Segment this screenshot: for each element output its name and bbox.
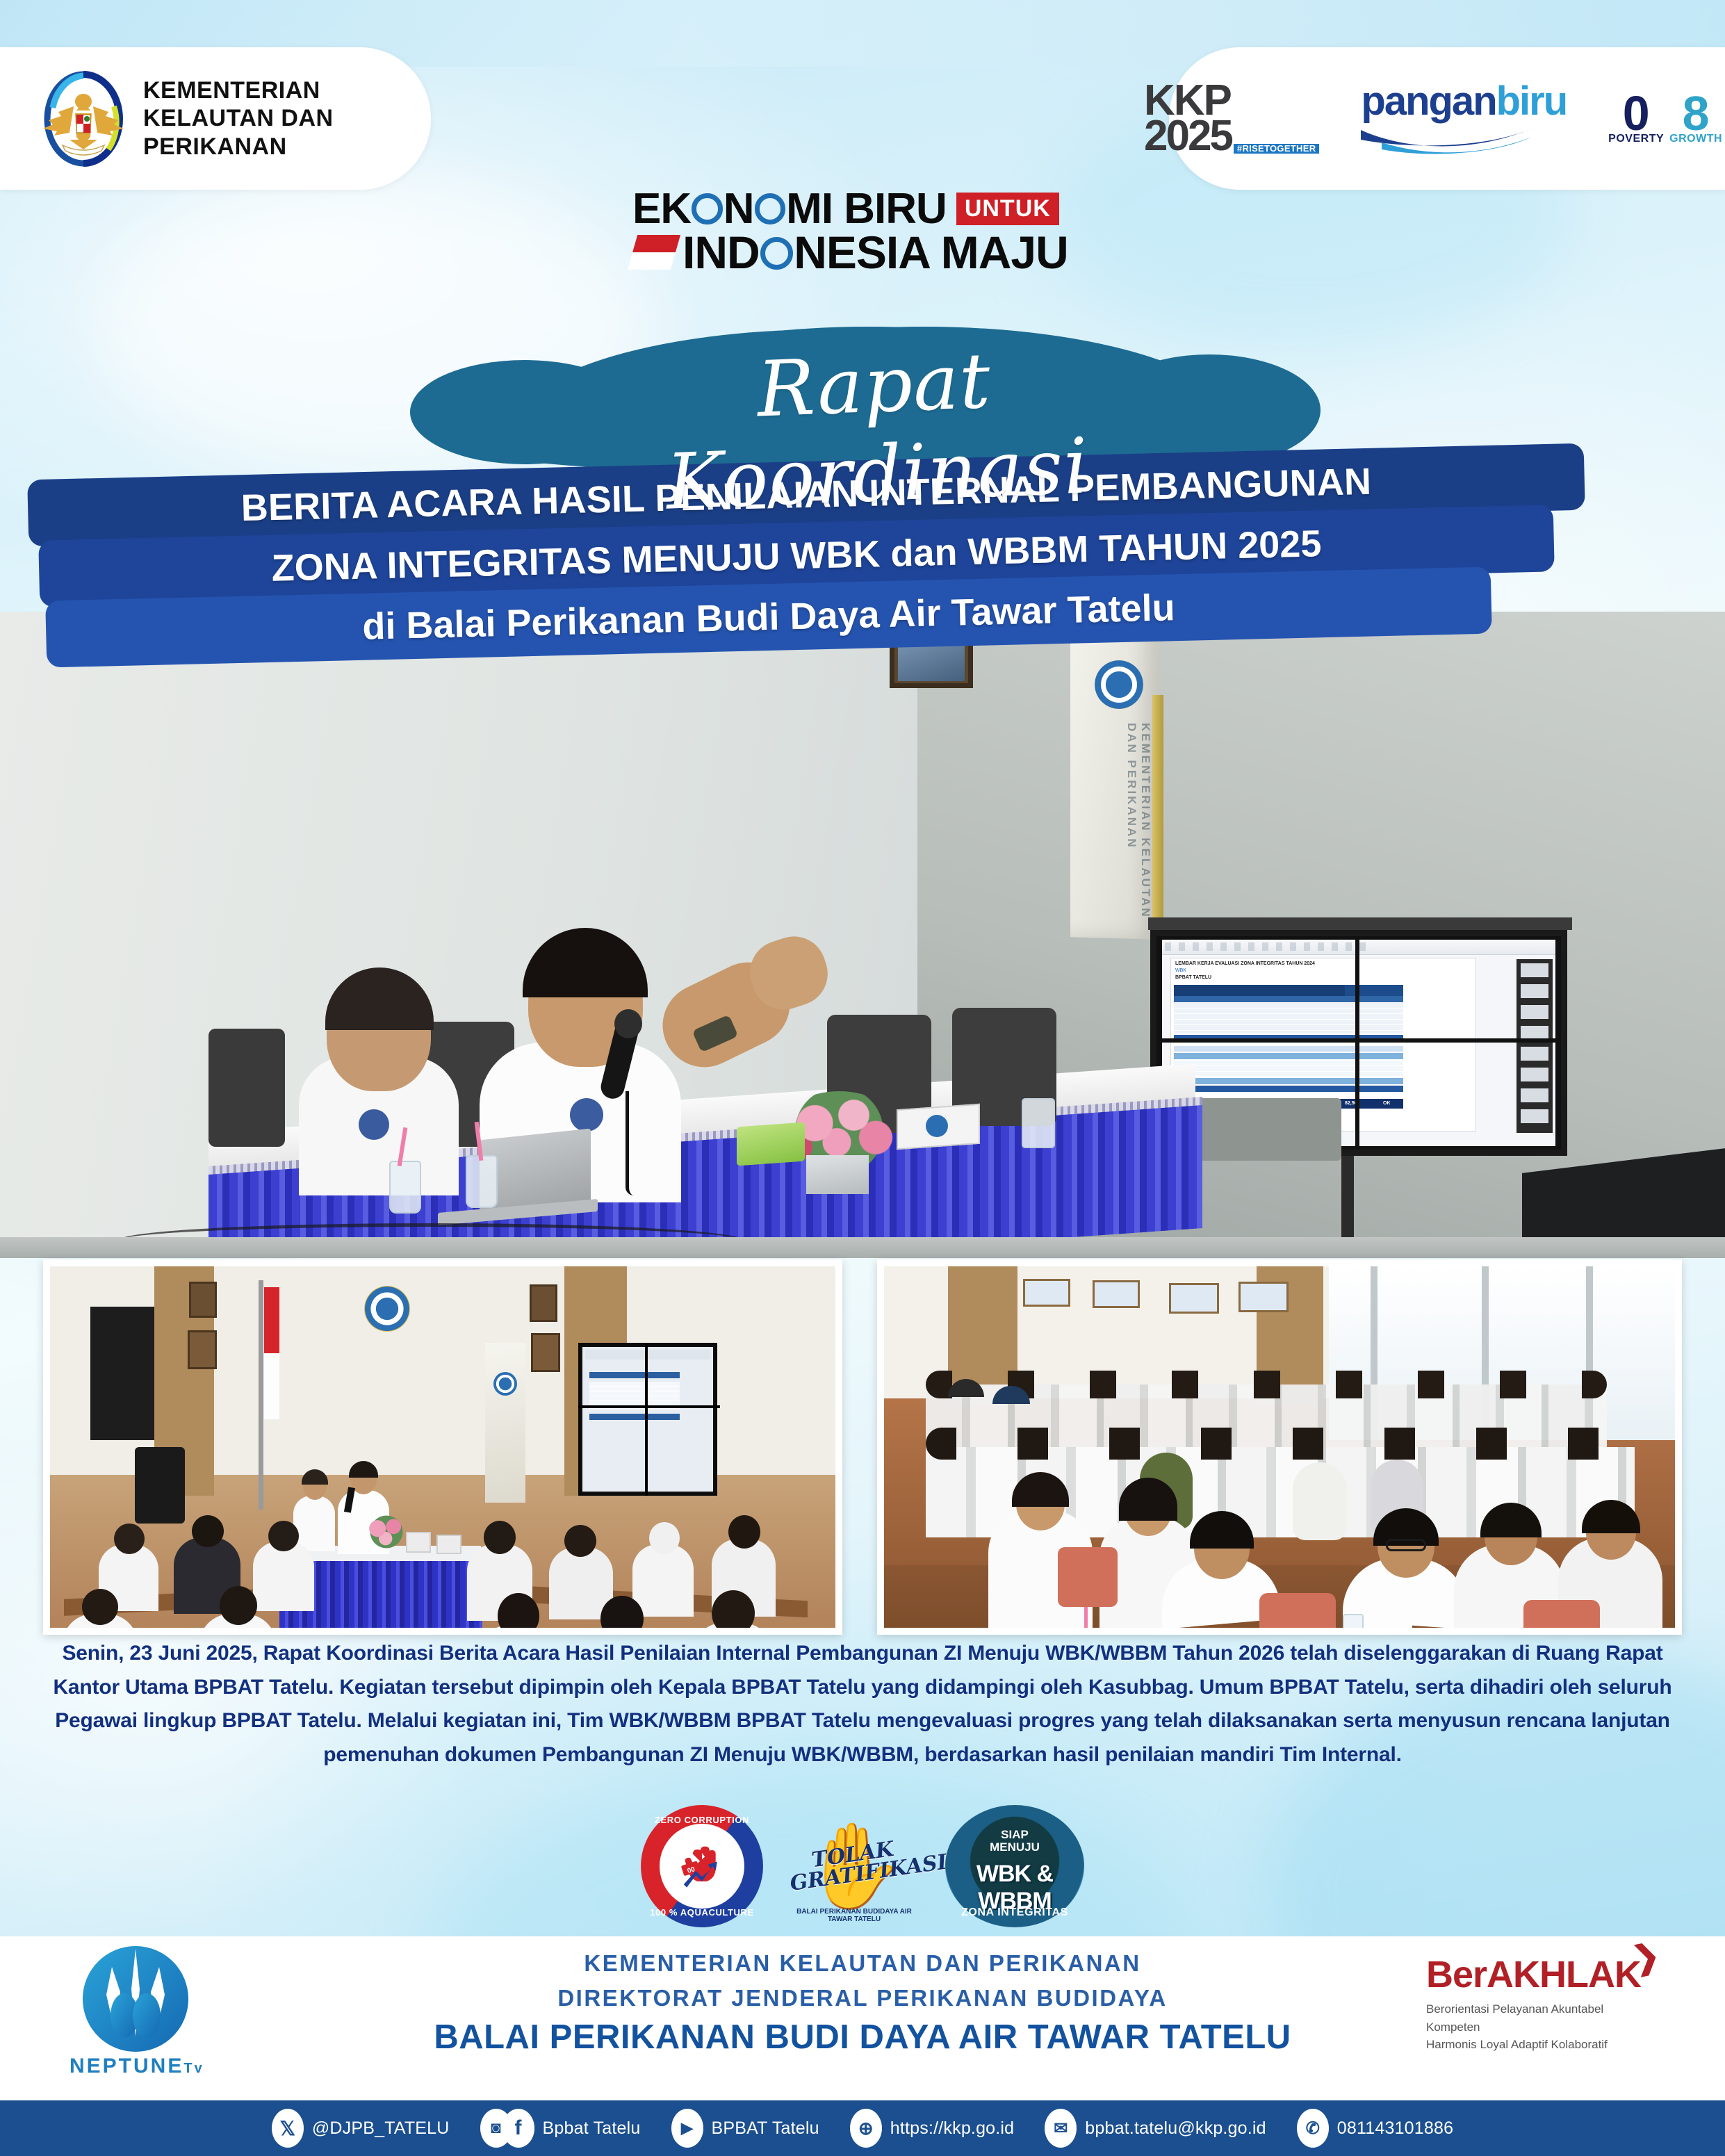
berakhlak-values-line-2: Harmonis Loyal Adaptif Kolaboratif (1426, 2036, 1655, 2054)
wbk-menuju: MENUJU (945, 1841, 1084, 1854)
tagline-seg-d: IND (682, 227, 760, 278)
neptune-tv-label: NEPTUNETv (70, 2055, 202, 2078)
panganbiru-logo: panganbiru (1361, 78, 1567, 160)
untuk-badge: UNTUK (956, 193, 1059, 225)
contact-email[interactable]: ✉ bpbat.tatelu@kkp.go.id (1045, 2109, 1266, 2148)
contact-youtube[interactable]: ▶ BPBAT Tatelu (671, 2109, 819, 2148)
kkp-2025-logo: KKP 2025 #RISETOGETHER (1144, 83, 1319, 154)
ministry-line-3: PERIKANAN (143, 133, 334, 161)
poster-root: KEMENTERIAN KELAUTAN DAN PERIKANAN KKP 2… (0, 0, 1725, 2156)
tolak-gratifikasi-badge: ✋ TOLAK GRATIFIKASI BALAI PERIKANAN BUDI… (788, 1805, 920, 1927)
zero-corruption-badge: ZERO CORRUPTION 00 100 % AQUACULTURE (641, 1805, 763, 1927)
kkp-logo-year: 2025 (1144, 119, 1232, 154)
contact-website[interactable]: ⊕ https://kkp.go.id (850, 2109, 1015, 2148)
contact-phone[interactable]: ✆ 081143101886 (1297, 2109, 1453, 2148)
contact-social-label: Bpbat Tatelu (543, 2118, 641, 2139)
poverty-number: 0 (1623, 93, 1650, 135)
hand-stop-money-icon: 00 (660, 1824, 744, 1909)
caption-paragraph: Senin, 23 Juni 2025, Rapat Koordinasi Be… (42, 1637, 1683, 1772)
neptune-word: NEPTUNE (70, 2055, 183, 2077)
contact-instagram-facebook[interactable]: ◙ f Bpbat Tatelu (480, 2109, 641, 2148)
wbk-zona-integritas: ZONA INTEGRITAS (945, 1906, 1084, 1919)
x-twitter-icon: 𝕏 (272, 2109, 304, 2148)
tagline-line-2: INDNESIA MAJU (682, 231, 1068, 274)
tagline-seg-c: MI BIRU (786, 185, 947, 233)
tolak-gratifikasi-sub: BALAI PERIKANAN BUDIDAYA AIR TAWAR TATEL… (788, 1908, 920, 1923)
tagline-seg-a: EK (632, 185, 691, 233)
wbk-wbbm-badge: SIAP MENUJU WBK & WBBM ZONA INTEGRITAS (945, 1805, 1084, 1927)
growth-number: 8 (1683, 93, 1710, 135)
badge-row: ZERO CORRUPTION 00 100 % AQUACULTURE ✋ T… (0, 1800, 1725, 1932)
contact-website-label: https://kkp.go.id (890, 2118, 1015, 2139)
contact-youtube-label: BPBAT Tatelu (712, 2118, 819, 2139)
panganbiru-word-2: biru (1496, 79, 1567, 124)
ministry-logo-pill: KEMENTERIAN KELAUTAN DAN PERIKANAN (0, 47, 431, 190)
email-icon: ✉ (1045, 2109, 1077, 2148)
script-title: Rapat Koordinasi (580, 329, 1170, 530)
circle-o-icon-3 (760, 237, 794, 270)
contact-x-twitter[interactable]: 𝕏 @DJPB_TATELU (272, 2109, 450, 2148)
contact-email-label: bpbat.tatelu@kkp.go.id (1085, 2118, 1266, 2139)
globe-icon: ⊕ (850, 2109, 882, 2148)
wbk-siap-menuju: SIAP MENUJU (945, 1829, 1084, 1854)
contact-phone-label: 081143101886 (1337, 2118, 1453, 2139)
photo-left-inner (50, 1266, 835, 1628)
berakhlak-text: BerAKHLAK (1426, 1954, 1641, 1995)
youtube-icon: ▶ (671, 2109, 703, 2148)
panganbiru-wave-icon (1361, 124, 1535, 156)
contact-bar: 𝕏 @DJPB_TATELU ◙ f Bpbat Tatelu ▶ BPBAT … (0, 2100, 1725, 2156)
panganbiru-word-1: pangan (1361, 79, 1496, 124)
zero-corruption-bottom-text: 100 % AQUACULTURE (641, 1907, 763, 1918)
growth-label: GROWTH (1669, 134, 1722, 144)
zero-corruption-top-text: ZERO CORRUPTION (641, 1815, 763, 1825)
berakhlak-wordmark: BerAKHLAK ❯ (1426, 1953, 1641, 1996)
berakhlak-values: Berorientasi Pelayanan Akuntabel Kompete… (1426, 2000, 1655, 2054)
garuda-emblem-icon (42, 70, 125, 168)
tagline-seg-e: NESIA MAJU (794, 227, 1068, 278)
indonesia-flag-icon (628, 235, 680, 270)
poverty-growth-logo: 0 POVERTY 8 GROWTH (1608, 93, 1722, 144)
kkp-logo-hashtag: #RISETOGETHER (1234, 144, 1319, 154)
tagline-line-1: EKNMI BIRU (632, 189, 947, 229)
ministry-line-1: KEMENTERIAN (143, 76, 334, 104)
ministry-name: KEMENTERIAN KELAUTAN DAN PERIKANAN (143, 76, 334, 160)
wbk-siap: SIAP (945, 1829, 1084, 1841)
partner-logos-pill: KKP 2025 #RISETOGETHER panganbiru 0 POVE… (1169, 47, 1725, 190)
neptune-tv-suffix: Tv (183, 2061, 204, 2076)
phone-icon: ✆ (1297, 2109, 1329, 2148)
circle-o-icon-2 (755, 193, 786, 224)
contact-x-label: @DJPB_TATELU (312, 2118, 450, 2139)
berakhlak-values-line-1: Berorientasi Pelayanan Akuntabel Kompete… (1426, 2000, 1655, 2036)
ministry-line-2: KELAUTAN DAN (143, 104, 334, 132)
berakhlak-logo: BerAKHLAK ❯ Berorientasi Pelayanan Akunt… (1426, 1953, 1655, 2054)
circle-o-icon (692, 193, 723, 224)
facebook-icon: f (502, 2109, 534, 2148)
tagline-seg-b: N (723, 185, 754, 233)
poverty-label: POVERTY (1608, 134, 1664, 144)
photo-right (877, 1259, 1682, 1635)
photo-left (43, 1259, 842, 1635)
main-photo: KEMENTERIAN KELAUTAN DAN PERIKANAN LEMBA… (0, 612, 1725, 1258)
ekonomi-biru-tagline: EKNMI BIRU UNTUK INDNESIA MAJU (632, 189, 1133, 274)
photo-right-inner (884, 1266, 1675, 1628)
